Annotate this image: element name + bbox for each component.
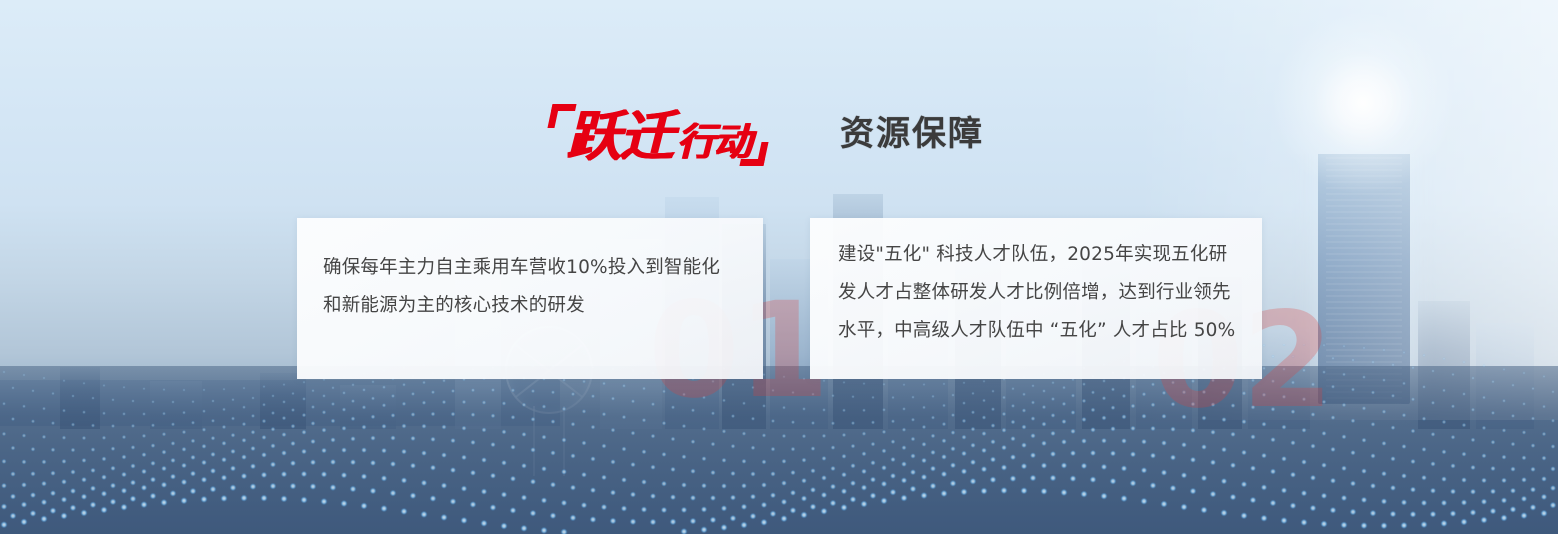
content-card-02: 建设"五化" 科技人才队伍，2025年实现五化研 发人才占整体研发人才比例倍增，… [810, 218, 1262, 379]
campaign-logo: 跃迁行动 [566, 92, 750, 164]
logo-secondary-text: 行动 [676, 120, 750, 164]
card-02-text: 建设"五化" 科技人才队伍，2025年实现五化研 发人才占整体研发人才比例倍增，… [838, 236, 1250, 350]
card-01-text: 确保每年主力自主乘用车营收10%投入到智能化 和新能源为主的核心技术的研发 [323, 249, 745, 325]
logo-primary-text: 跃迁 [566, 105, 672, 168]
quote-open-icon [547, 104, 576, 128]
content-card-01: 确保每年主力自主乘用车营收10%投入到智能化 和新能源为主的核心技术的研发 [297, 218, 763, 379]
quote-close-icon [739, 142, 768, 166]
logo-text: 跃迁行动 [566, 110, 750, 164]
header: 跃迁行动 资源保障 [0, 92, 1558, 172]
page-title: 资源保障 [840, 106, 984, 155]
slide-canvas: 01 02 跃迁行动 资源保障 确保每年主力自主乘用车营收10%投入到智能化 和… [0, 0, 1558, 534]
